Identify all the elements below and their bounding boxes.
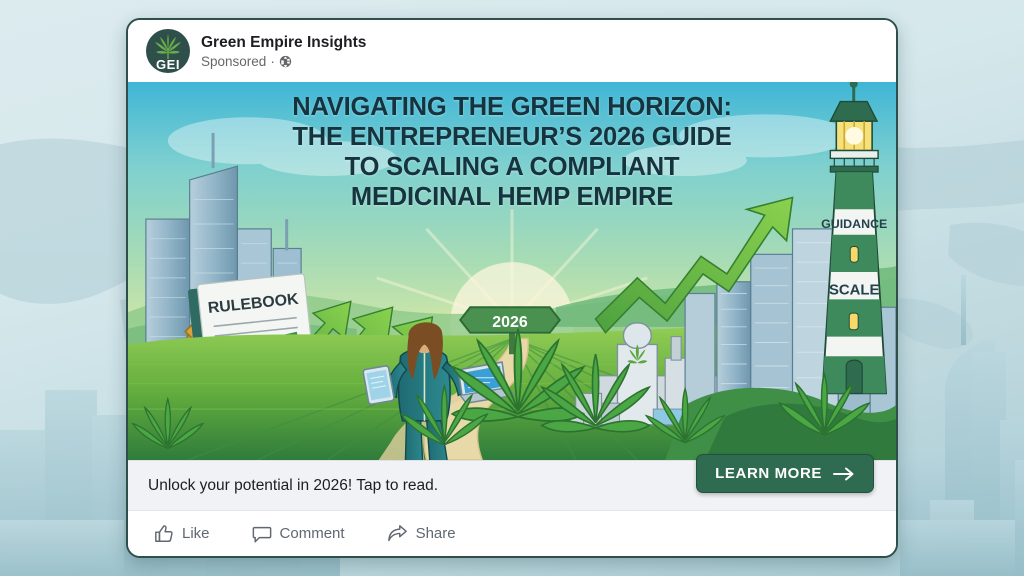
cta-bar: Unlock your potential in 2026! Tap to re… <box>128 460 896 510</box>
comment-label: Comment <box>280 525 345 542</box>
like-label: Like <box>182 525 210 542</box>
avatar[interactable]: GEI <box>146 29 190 73</box>
lighthouse-band-top-text: GUIDANCE <box>821 217 887 231</box>
thumbs-up-icon <box>154 524 174 544</box>
share-arrow-icon <box>387 524 408 544</box>
creative-headline: NAVIGATING THE GREEN HORIZON: THE ENTREP… <box>128 92 896 212</box>
ad-actions-bar: Like Comment Share <box>128 510 896 556</box>
city-skyline-right-bg <box>900 275 1024 576</box>
learn-more-button[interactable]: LEARN MORE <box>696 454 874 493</box>
learn-more-label: LEARN MORE <box>715 465 822 482</box>
lighthouse-band-bottom-text: SCALE <box>829 283 880 299</box>
header-text-group: Green Empire Insights Sponsored · <box>201 34 366 69</box>
signpost-label-text: 2026 <box>492 314 528 331</box>
tablet <box>363 365 395 404</box>
like-button[interactable]: Like <box>154 524 210 544</box>
share-button[interactable]: Share <box>387 524 456 544</box>
ad-header: GEI Green Empire Insights Sponsored · <box>128 20 896 82</box>
headline-line-2: THE ENTREPRENEUR’S 2026 GUIDE <box>156 122 868 152</box>
sponsored-label: Sponsored <box>201 54 266 69</box>
share-label: Share <box>416 525 456 542</box>
headline-line-4: MEDICINAL HEMP EMPIRE <box>156 182 868 212</box>
headline-line-3: TO SCALING A COMPLIANT <box>156 152 868 182</box>
sponsored-ad-card[interactable]: GEI Green Empire Insights Sponsored · <box>126 18 898 558</box>
avatar-initials: GEI <box>146 58 190 71</box>
sponsored-line: Sponsored · <box>201 54 366 69</box>
arrow-right-icon <box>833 467 855 481</box>
speech-bubble-icon <box>252 524 272 544</box>
globe-icon <box>279 55 292 68</box>
separator-dot: · <box>270 54 275 69</box>
headline-line-1: NAVIGATING THE GREEN HORIZON: <box>156 92 868 122</box>
comment-button[interactable]: Comment <box>252 524 345 544</box>
page-name[interactable]: Green Empire Insights <box>201 34 366 52</box>
ad-creative-image[interactable]: RULEBOOK COMPLIANT <box>128 82 896 460</box>
cta-text: Unlock your potential in 2026! Tap to re… <box>148 477 438 495</box>
